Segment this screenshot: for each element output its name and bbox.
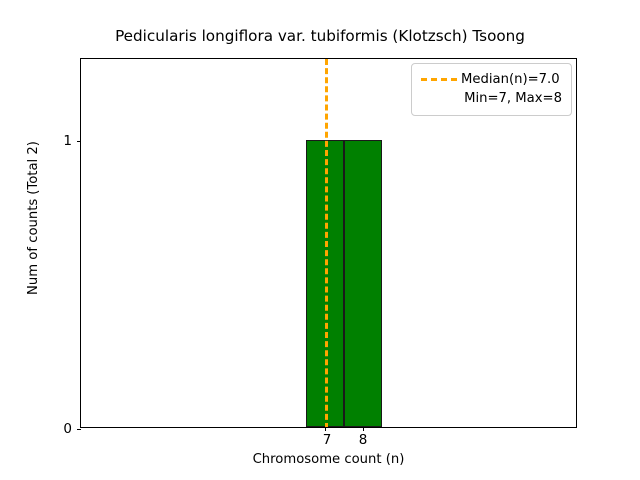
dashed-line-icon	[421, 78, 457, 81]
chart-figure: Pedicularis longiflora var. tubiformis (…	[0, 0, 640, 480]
legend-label-median: Median(n)=7.0	[461, 70, 560, 89]
legend-label-minmax: Min=7, Max=8	[464, 89, 562, 108]
y-axis-label: Num of counts (Total 2)	[17, 33, 51, 403]
median-line	[325, 59, 328, 427]
ytick-label-1: 1	[50, 133, 72, 149]
bar-category-8	[344, 140, 382, 427]
xtick-mark-7	[325, 427, 326, 431]
xtick-label-8: 8	[348, 433, 378, 448]
y-axis-label-line2: (Total 2)	[26, 141, 42, 195]
xtick-mark-8	[363, 427, 364, 431]
xtick-label-7: 7	[312, 433, 342, 448]
chart-title: Pedicularis longiflora var. tubiformis (…	[0, 27, 640, 45]
ytick-mark-0	[77, 429, 81, 430]
x-axis-label: Chromosome count (n)	[80, 452, 577, 468]
ytick-mark-1	[77, 141, 81, 142]
legend-entry-median: Median(n)=7.0	[421, 70, 562, 89]
legend-dash-swatch	[421, 70, 461, 89]
legend: Median(n)=7.0 Min=7, Max=8	[411, 63, 572, 116]
legend-entry-minmax: Min=7, Max=8	[421, 89, 562, 108]
ytick-label-0: 0	[50, 421, 72, 437]
y-axis-label-line1: Num of counts	[26, 199, 42, 295]
